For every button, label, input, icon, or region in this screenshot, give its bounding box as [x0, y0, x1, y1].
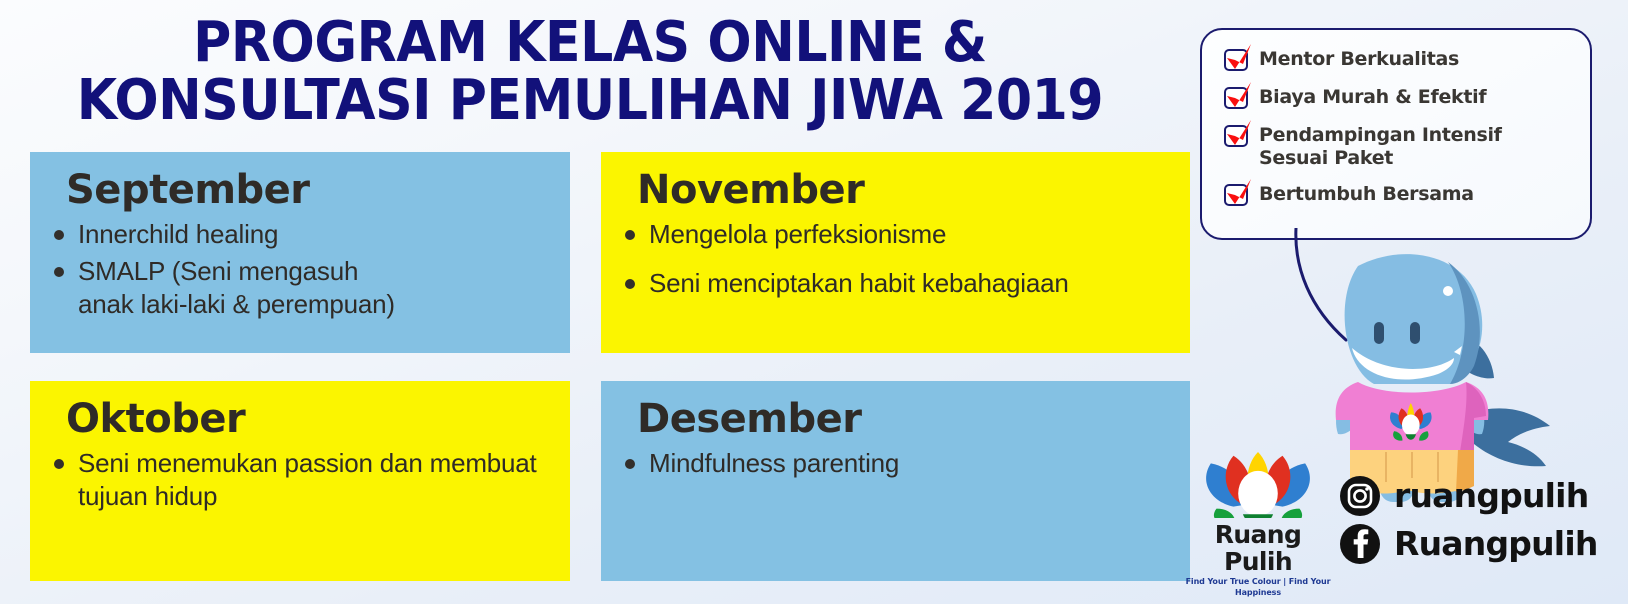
checkbox-checked-icon — [1224, 184, 1250, 208]
month-card-desember: Desember Mindfulness parenting — [601, 381, 1190, 581]
instagram-icon[interactable] — [1340, 476, 1380, 516]
topic-line-1: Seni menemukan passion dan membuat — [78, 448, 537, 478]
benefit-label: Biaya Murah & Efektif — [1259, 86, 1486, 109]
topic-line-1: Mindfulness parenting — [649, 448, 899, 478]
benefit-item: Pendampingan Intensif Sesuai Paket — [1224, 124, 1576, 170]
brand-logo: Ruang Pulih Find Your True Colour | Find… — [1182, 452, 1334, 570]
list-item: Seni menemukan passion dan membuat tujua… — [52, 447, 548, 513]
topic-line-2: anak laki-laki & perempuan) — [78, 288, 548, 321]
benefit-item: Bertumbuh Bersama — [1224, 183, 1576, 208]
bullet-dot-icon — [54, 267, 64, 277]
checkbox-checked-icon — [1224, 125, 1250, 149]
month-card-oktober: Oktober Seni menemukan passion dan membu… — [30, 381, 570, 581]
benefit-item: Biaya Murah & Efektif — [1224, 86, 1576, 111]
benefit-label: Mentor Berkualitas — [1259, 48, 1459, 71]
list-item: Innerchild healing — [52, 218, 548, 251]
benefit-label-line-1: Pendampingan Intensif — [1259, 124, 1502, 146]
social-facebook[interactable]: Ruangpulih — [1340, 524, 1620, 564]
benefit-label-line-2: Sesuai Paket — [1259, 147, 1393, 169]
list-item: Seni menciptakan habit kebahagiaan — [623, 267, 1168, 300]
month-title: November — [637, 168, 1168, 212]
bullet-dot-icon — [54, 459, 64, 469]
list-item: Mengelola perfeksionisme — [623, 218, 1168, 251]
benefit-label: Pendampingan Intensif Sesuai Paket — [1259, 124, 1502, 170]
month-topic-list: Mindfulness parenting — [623, 447, 1168, 480]
instagram-handle[interactable]: ruangpulih — [1394, 478, 1588, 514]
month-topic-list: Seni menemukan passion dan membuat tujua… — [52, 447, 548, 513]
social-instagram[interactable]: ruangpulih — [1340, 476, 1620, 516]
title-line-2: KONSULTASI PEMULIHAN JIWA 2019 — [41, 72, 1138, 130]
bullet-dot-icon — [54, 230, 64, 240]
list-item: Mindfulness parenting — [623, 447, 1168, 480]
bullet-dot-icon — [625, 230, 635, 240]
month-topic-list: Mengelola perfeksionisme Seni menciptaka… — [623, 218, 1168, 300]
bullet-dot-icon — [625, 459, 635, 469]
month-topic-list: Innerchild healing SMALP (Seni mengasuh … — [52, 218, 548, 321]
topic-line-1: Mengelola perfeksionisme — [649, 219, 946, 249]
infographic-poster: PROGRAM KELAS ONLINE & KONSULTASI PEMULI… — [0, 0, 1628, 604]
ruang-pulih-lotus-icon — [1182, 452, 1334, 518]
facebook-icon[interactable] — [1340, 524, 1380, 564]
month-title: Desember — [637, 397, 1168, 441]
benefits-speech-bubble: Mentor Berkualitas Biaya Murah & Efektif… — [1200, 28, 1592, 240]
brand-tagline: Find Your True Colour | Find Your Happin… — [1182, 576, 1334, 598]
brand-name: Ruang Pulih — [1182, 521, 1334, 575]
topic-line-1: Innerchild healing — [78, 219, 278, 249]
topic-line-1: SMALP (Seni mengasuh — [78, 256, 358, 286]
benefit-item: Mentor Berkualitas — [1224, 48, 1576, 73]
topic-line-1: Seni menciptakan habit kebahagiaan — [649, 268, 1069, 298]
benefit-label: Bertumbuh Bersama — [1259, 183, 1474, 206]
month-title: Oktober — [66, 397, 548, 441]
month-title: September — [66, 168, 548, 212]
bullet-dot-icon — [625, 279, 635, 289]
social-links: ruangpulih Ruangpulih — [1340, 476, 1620, 572]
topic-line-2: tujuan hidup — [78, 480, 548, 513]
checkbox-checked-icon — [1224, 49, 1250, 73]
list-item: SMALP (Seni mengasuh anak laki-laki & pe… — [52, 255, 548, 321]
page-title: PROGRAM KELAS ONLINE & KONSULTASI PEMULI… — [0, 14, 1180, 130]
month-card-november: November Mengelola perfeksionisme Seni m… — [601, 152, 1190, 353]
title-line-1: PROGRAM KELAS ONLINE & — [41, 14, 1138, 72]
facebook-handle[interactable]: Ruangpulih — [1394, 526, 1598, 562]
checkbox-checked-icon — [1224, 87, 1250, 111]
month-card-september: September Innerchild healing SMALP (Seni… — [30, 152, 570, 353]
